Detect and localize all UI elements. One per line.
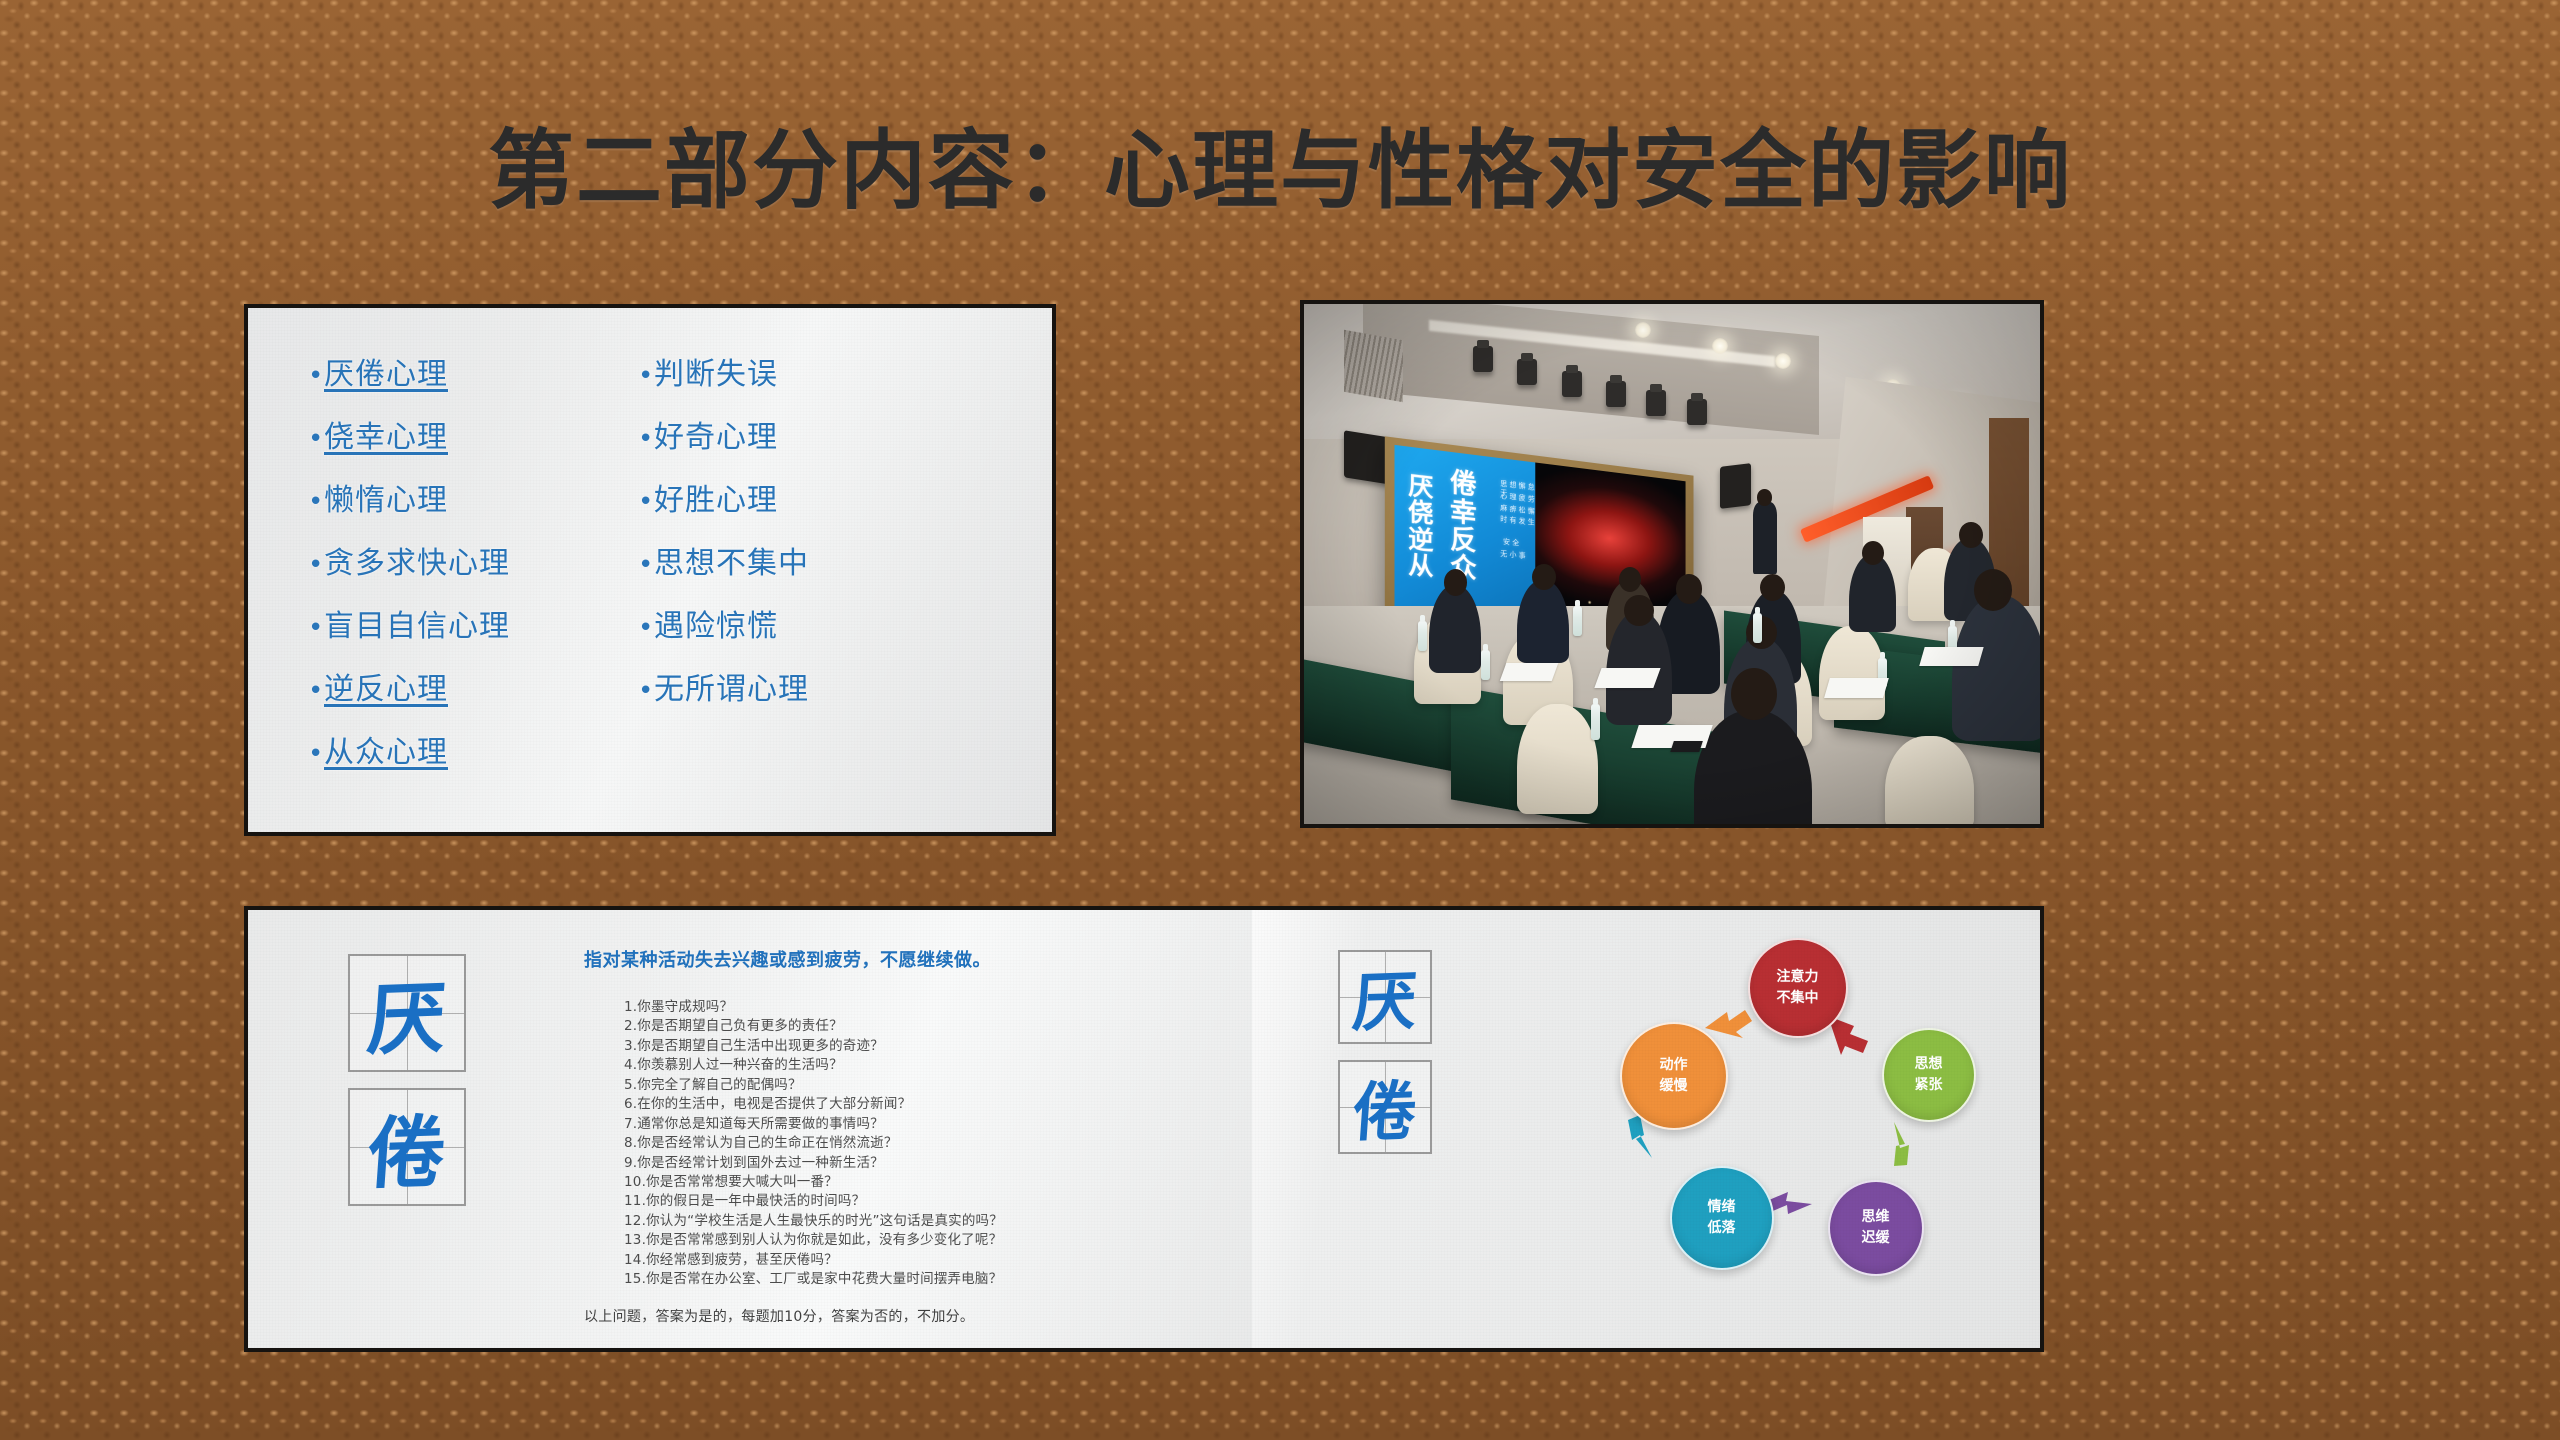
list-item-label: 侥幸心理 [324,423,448,453]
list-item[interactable]: •侥幸心理 [308,423,638,486]
arrow-purple-icon [1768,1192,1812,1214]
bottom-slide-pair: 厌 倦 指对某种活动失去兴趣或感到疲劳，不愿继续做。 1.你墨守成规吗？ 2.你… [248,910,2040,1348]
question-item: 4.你羡慕别人过一种兴奋的生活吗？ [624,1056,1264,1075]
screen-char: 从 [1408,551,1433,579]
psychology-list-panel: •厌倦心理 •侥幸心理 •懒惰心理 •贪多求快心理 •盲目自信心理 •逆反心理 … [244,304,1056,836]
question-item: 3.你是否期望自己生活中出现更多的奇迹？ [624,1037,1264,1056]
list-item-label: 厌倦心理 [324,360,448,390]
conference-room-photo: 厌 侥 逆 从 倦 幸 反 众 思 想 懈 怠 于 心 理 疲 劳 [1304,304,2040,824]
list-columns: •厌倦心理 •侥幸心理 •懒惰心理 •贪多求快心理 •盲目自信心理 •逆反心理 … [248,308,1052,832]
question-item: 14.你经常感到疲劳，甚至厌倦吗？ [624,1251,1264,1270]
cycle-node-attention: 注意力 不集中 [1748,938,1848,1038]
water-bottle [1418,621,1427,651]
bullet-dot-icon: • [308,615,324,641]
character-grid-box: 倦 [1338,1060,1432,1154]
question-item: 11.你的假日是一年中最快活的时间吗？ [624,1192,1264,1211]
arrow-green-icon [1894,1122,1909,1166]
screen-side-note: 无 小 事 [1500,550,1525,562]
attendee-head [1862,541,1884,565]
chair [1517,704,1598,813]
screen-side-note: 安 全 [1503,538,1519,549]
list-item[interactable]: •判断失误 [638,360,968,423]
document [1824,678,1889,698]
bullet-dot-icon: • [308,363,324,389]
ceiling-spotlight [1473,346,1493,372]
list-item-label: 从众心理 [324,738,448,768]
bullet-dot-icon: • [308,741,324,767]
cycle-node-line1: 动作 [1660,1055,1688,1076]
question-list: 1.你墨守成规吗？ 2.你是否期望自己负有更多的责任？ 3.你是否期望自己生活中… [584,998,1264,1290]
attendee-head [1676,574,1702,603]
character-glyph: 倦 [1336,1060,1433,1153]
question-item: 8.你是否经常认为自己的生命正在悄然流逝？ [624,1134,1264,1153]
question-item: 6.在你的生活中，电视是否提供了大部分新闻？ [624,1095,1264,1114]
list-item[interactable]: •思想不集中 [638,549,968,612]
question-item: 9.你是否经常计划到国外去过一种新生活？ [624,1154,1264,1173]
air-vent [1344,330,1403,403]
question-item: 13.你是否常常感到别人认为你就是如此，没有多少变化了呢？ [624,1231,1264,1250]
document [1595,668,1661,688]
conference-photo-panel: 厌 侥 逆 从 倦 幸 反 众 思 想 懈 怠 于 心 理 疲 劳 [1300,300,2044,828]
cycle-node-line1: 思维 [1862,1207,1890,1228]
water-bottle [1481,650,1490,680]
list-item-label: 遇险惊慌 [654,612,778,642]
character-grid-box: 倦 [348,1088,466,1206]
cycle-node-line2: 缓慢 [1660,1076,1688,1097]
attendee-head [1731,668,1777,720]
question-item: 7.通常你总是知道每天所需要做的事情吗？ [624,1115,1264,1134]
cycle-node-line2: 低落 [1708,1218,1736,1239]
definition-heading: 指对某种活动失去兴趣或感到疲劳，不愿继续做。 [584,946,991,972]
endurance-detail-panel: 厌 倦 指对某种活动失去兴趣或感到疲劳，不愿继续做。 1.你墨守成规吗？ 2.你… [244,906,2044,1352]
presenter [1753,502,1777,575]
screen-calligraphy-column-1: 厌 侥 逆 从 [1408,472,1433,580]
attendee-head [1959,522,1983,548]
wall-speaker [1720,463,1751,508]
cycle-node-line2: 迟缓 [1862,1228,1890,1249]
cycle-node-line1: 思想 [1915,1054,1943,1075]
document [1499,663,1557,681]
page-title: 第二部分内容：心理与性格对安全的影响 [0,128,2560,214]
chair [1819,626,1885,720]
cycle-node-slow-thinking: 思维 迟缓 [1828,1180,1924,1276]
character-glyph: 厌 [1336,950,1433,1043]
list-item-label: 逆反心理 [324,675,448,705]
list-column-right: •判断失误 •好奇心理 •好胜心理 •思想不集中 •遇险惊慌 •无所谓心理 [638,360,968,832]
question-item: 10.你是否常常想要大喊大叫一番？ [624,1173,1264,1192]
bullet-dot-icon: • [308,426,324,452]
attendee [1429,585,1481,673]
cycle-node-tension: 思想 紧张 [1882,1028,1976,1122]
list-item-label: 贪多求快心理 [324,549,510,579]
bullet-dot-icon: • [638,363,654,389]
question-item: 2.你是否期望自己负有更多的责任？ [624,1017,1264,1036]
questionnaire-slide: 厌 倦 指对某种活动失去兴趣或感到疲劳，不愿继续做。 1.你墨守成规吗？ 2.你… [248,910,1252,1348]
ceiling-spotlight [1646,390,1666,416]
water-bottle [1591,704,1600,740]
cycle-node-slow-action: 动作 缓慢 [1620,1022,1728,1130]
list-item[interactable]: •遇险惊慌 [638,612,968,675]
list-item[interactable]: •贪多求快心理 [308,549,638,612]
character-grid-box: 厌 [348,954,466,1072]
character-glyph: 厌 [346,954,468,1072]
attendee-head [1974,569,2012,611]
bullet-dot-icon: • [308,552,324,578]
water-bottle [1573,606,1582,636]
water-bottle [1753,613,1762,643]
symptom-cycle-slide: 厌 倦 [1252,910,2040,1348]
screen-calligraphy-column-2: 倦 幸 反 众 [1450,470,1477,585]
presenter-head [1757,489,1772,506]
character-glyph: 倦 [346,1088,468,1206]
slide-canvas: 第二部分内容：心理与性格对安全的影响 •厌倦心理 •侥幸心理 •懒惰心理 •贪多… [0,0,2560,1440]
attendee-head [1532,564,1556,590]
list-item[interactable]: •懒惰心理 [308,486,638,549]
question-item: 15.你是否常在办公室、工厂或是家中花费大量时间摆弄电脑？ [624,1270,1264,1289]
screen-side-note: 时 有 发 生 [1500,516,1534,529]
bullet-dot-icon: • [638,615,654,641]
arrow-orange-icon [1705,1010,1752,1038]
list-item[interactable]: •好奇心理 [638,423,968,486]
cycle-node-line2: 紧张 [1915,1075,1943,1096]
cycle-node-line1: 注意力 [1777,967,1819,988]
ceiling-spotlight [1517,359,1537,385]
list-item-label: 思想不集中 [654,549,809,579]
bullet-dot-icon: • [638,489,654,515]
question-item: 12.你认为“学校生活是人生最快乐的时光”这句话是真实的吗？ [624,1212,1264,1231]
bullet-dot-icon: • [308,678,324,704]
list-item[interactable]: •无所谓心理 [638,675,968,738]
bullet-dot-icon: • [638,678,654,704]
attendee-head [1624,595,1653,626]
list-item-label: 判断失误 [654,360,778,390]
smartphone [1670,741,1703,752]
bullet-dot-icon: • [638,426,654,452]
list-column-left: •厌倦心理 •侥幸心理 •懒惰心理 •贪多求快心理 •盲目自信心理 •逆反心理 … [308,360,638,832]
list-item[interactable]: •从众心理 [308,738,638,801]
attendee-head [1619,567,1641,592]
ceiling-spotlight [1562,371,1582,397]
character-grid-box: 厌 [1338,950,1432,1044]
list-item[interactable]: •好胜心理 [638,486,968,549]
list-item-label: 好胜心理 [654,486,778,516]
cycle-node-line1: 情绪 [1708,1197,1736,1218]
bullet-dot-icon: • [308,489,324,515]
ceiling-spotlight [1606,381,1626,407]
bullet-dot-icon: • [638,552,654,578]
cycle-node-line2: 不集中 [1777,988,1819,1009]
list-item-label: 盲目自信心理 [324,612,510,642]
list-item-label: 懒惰心理 [324,486,448,516]
cycle-node-low-mood: 情绪 低落 [1670,1166,1774,1270]
list-item[interactable]: •厌倦心理 [308,360,638,423]
scoring-note: 以上问题，答案为是的，每题加10分，答案为否的，不加分。 [584,1306,974,1326]
question-item: 1.你墨守成规吗？ [624,998,1264,1017]
question-item: 5.你完全了解自己的配偶吗？ [624,1076,1264,1095]
list-item[interactable]: •盲目自信心理 [308,612,638,675]
ceiling-spotlight [1687,399,1707,425]
document [1920,647,1984,666]
list-item-label: 无所谓心理 [654,675,809,705]
list-item-label: 好奇心理 [654,423,778,453]
list-item[interactable]: •逆反心理 [308,675,638,738]
